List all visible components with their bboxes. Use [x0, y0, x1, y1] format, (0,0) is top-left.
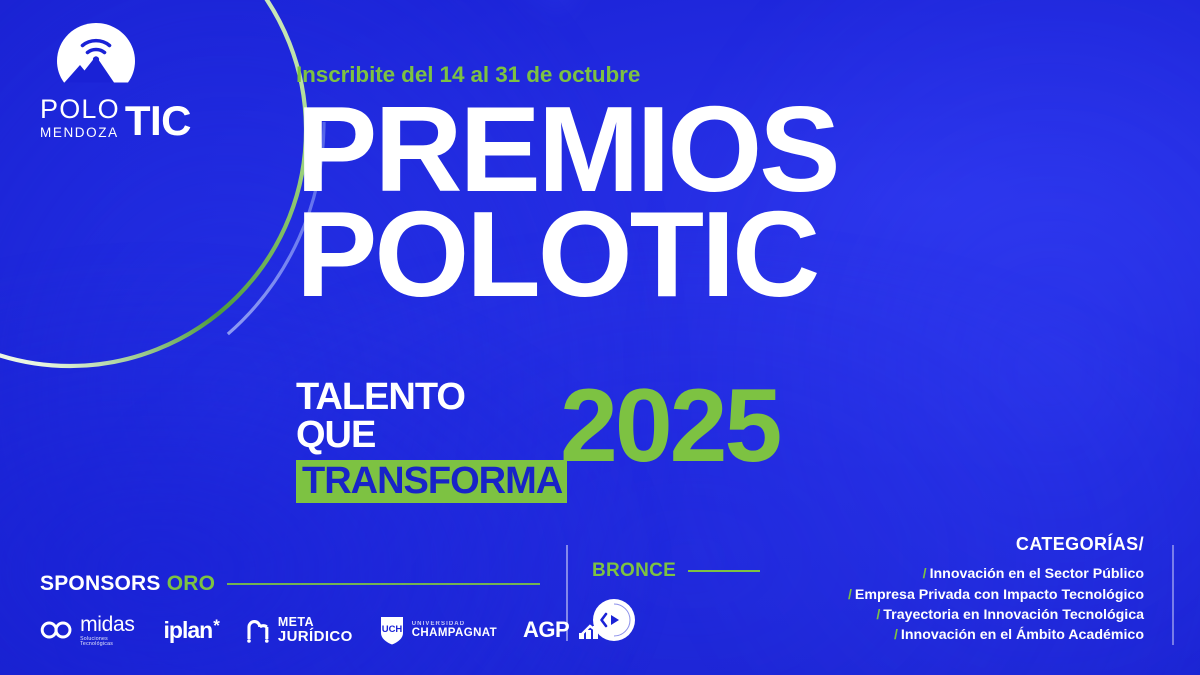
- sponsors-header: SPONSORS ORO: [40, 572, 540, 596]
- footer: SPONSORS ORO midas Soluciones Tecnológic…: [0, 515, 1200, 675]
- bronce-label: BRONCE: [592, 560, 676, 582]
- tagline-year-row: TALENTO QUE TRANSFORMA 2025: [296, 378, 779, 503]
- category-item: /Innovación en el Sector Público: [848, 564, 1144, 584]
- infinity-icon: [40, 619, 73, 641]
- sponsor-logo-iplan[interactable]: iplan *: [164, 617, 219, 644]
- poster-canvas: POLO MENDOZA TIC Inscribite del 14 al 31…: [0, 0, 1200, 675]
- polotic-logo[interactable]: POLO MENDOZA TIC: [34, 22, 214, 140]
- categories-title: CATEGORÍAS/: [848, 534, 1144, 555]
- logo-tic-text: TIC: [125, 102, 191, 141]
- sponsor-midas-subtitle: Soluciones Tecnológicas: [80, 637, 137, 647]
- sponsors-logo-row: midas Soluciones Tecnológicas iplan *: [40, 614, 540, 647]
- categories-list: /Innovación en el Sector Público /Empres…: [848, 564, 1144, 645]
- sponsor-uch-line2: CHAMPAGNAT: [412, 627, 497, 639]
- slash-icon: /: [876, 607, 880, 623]
- categories-vertical-divider: [1172, 545, 1174, 645]
- sponsors-title: SPONSORS ORO: [40, 572, 215, 596]
- sponsors-oro-section: SPONSORS ORO midas Soluciones Tecnológic…: [40, 572, 540, 647]
- slash-icon: /: [848, 587, 852, 603]
- tagline-line-1: TALENTO QUE: [296, 378, 546, 454]
- bronce-header: BRONCE: [592, 560, 792, 582]
- category-label: Innovación en el Sector Público: [930, 566, 1144, 582]
- category-label: Trayectoria en Innovación Tecnológica: [883, 607, 1144, 623]
- tagline-block: TALENTO QUE TRANSFORMA: [296, 378, 546, 503]
- category-item: /Trayectoria en Innovación Tecnológica: [848, 605, 1144, 625]
- logo-mendoza-text: MENDOZA: [40, 126, 120, 140]
- asterisk-icon: *: [213, 617, 219, 634]
- sponsors-bronce-section: BRONCE: [592, 560, 792, 647]
- circular-play-badge-icon[interactable]: [592, 598, 636, 642]
- sponsor-meta-line2: JURÍDICO: [278, 629, 353, 644]
- edition-year: 2025: [560, 384, 779, 469]
- sponsor-midas-name: midas: [80, 614, 137, 635]
- bronce-divider: [688, 570, 760, 572]
- sponsor-uch-line1: UNIVERSIDAD: [412, 621, 497, 627]
- sponsors-label: SPONSORS: [40, 572, 161, 595]
- hero-headline-block: Inscribite del 14 al 31 de octubre PREMI…: [296, 62, 936, 307]
- sponsor-logo-midas[interactable]: midas Soluciones Tecnológicas: [40, 614, 138, 647]
- title-line-2: POLOTIC: [296, 202, 936, 307]
- category-item: /Empresa Privada con Impacto Tecnológico: [848, 585, 1144, 605]
- slash-icon: /: [923, 566, 927, 582]
- sponsors-tier: ORO: [167, 572, 215, 595]
- tagline-highlight-box: TRANSFORMA: [296, 460, 567, 503]
- category-label: Empresa Privada con Impacto Tecnológico: [855, 587, 1144, 603]
- svg-text:UCH: UCH: [381, 624, 402, 635]
- sponsor-agp-name: AGP: [523, 617, 569, 643]
- mountain-wifi-icon: [52, 22, 140, 88]
- tagline-line-2: TRANSFORMA: [302, 462, 562, 500]
- page-title: PREMIOS POLOTIC: [296, 97, 936, 307]
- category-label: Innovación en el Ámbito Académico: [901, 627, 1144, 643]
- shield-icon: UCH: [379, 615, 405, 645]
- footer-vertical-divider: [566, 545, 568, 641]
- slash-icon: /: [894, 627, 898, 643]
- sponsors-divider: [227, 583, 540, 585]
- category-item: /Innovación en el Ámbito Académico: [848, 625, 1144, 645]
- logo-polo-text: POLO: [40, 96, 120, 123]
- sponsor-iplan-name: iplan: [164, 617, 213, 644]
- sponsor-logo-meta-juridico[interactable]: META JURÍDICO: [245, 616, 353, 644]
- meta-m-icon: [245, 617, 271, 643]
- categories-section: CATEGORÍAS/ /Innovación en el Sector Púb…: [848, 534, 1144, 645]
- sponsor-logo-champagnat[interactable]: UCH UNIVERSIDAD CHAMPAGNAT: [379, 615, 497, 645]
